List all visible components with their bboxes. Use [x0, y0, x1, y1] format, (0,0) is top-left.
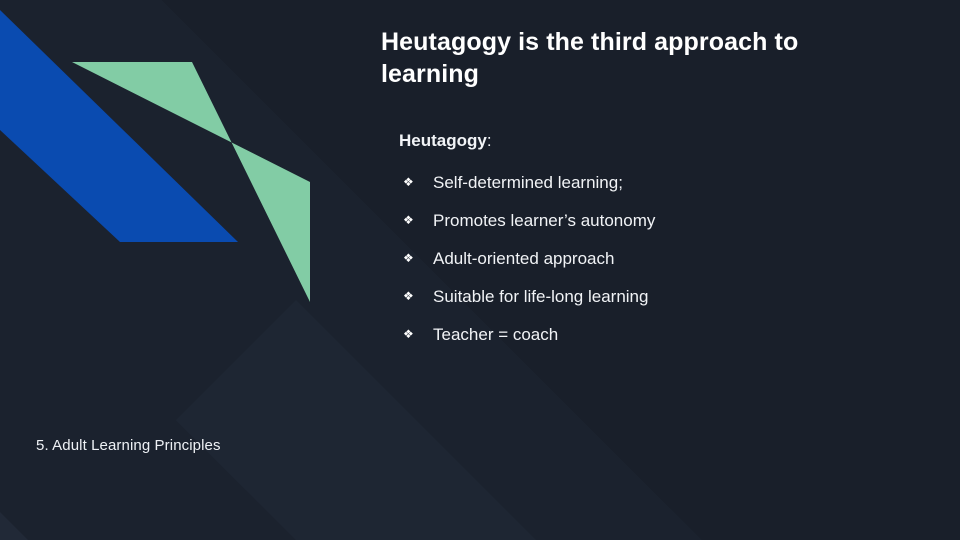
lead-heading: Heutagogy: [399, 130, 829, 151]
list-item: ❖ Suitable for life-long learning [399, 277, 829, 315]
list-item: ❖ Teacher = coach [399, 315, 829, 353]
list-item: ❖ Adult-oriented approach [399, 239, 829, 277]
diamond-bullet-icon: ❖ [403, 252, 414, 264]
diagonal-shadow-band-2 [0, 330, 660, 540]
lead-heading-colon: : [487, 131, 492, 150]
lead-heading-label: Heutagogy [399, 131, 487, 150]
diamond-bullet-icon: ❖ [403, 290, 414, 302]
slide: Heutagogy is the third approach to learn… [0, 0, 960, 540]
bullet-list: ❖ Self-determined learning; ❖ Promotes l… [399, 163, 829, 353]
list-item-label: Self-determined learning; [433, 174, 623, 191]
diamond-bullet-icon: ❖ [403, 214, 414, 226]
list-item-label: Teacher = coach [433, 326, 558, 343]
list-item-label: Suitable for life-long learning [433, 288, 648, 305]
decorative-shapes [0, 0, 360, 330]
list-item-label: Promotes learner’s autonomy [433, 212, 655, 229]
diagonal-shadow-band-3 [0, 392, 729, 540]
diamond-bullet-icon: ❖ [403, 176, 414, 188]
slide-body: Heutagogy: ❖ Self-determined learning; ❖… [399, 130, 829, 353]
list-item: ❖ Self-determined learning; [399, 163, 829, 201]
slide-footer-section-label: 5. Adult Learning Principles [36, 437, 221, 455]
diamond-bullet-icon: ❖ [403, 328, 414, 340]
list-item-label: Adult-oriented approach [433, 250, 614, 267]
list-item: ❖ Promotes learner’s autonomy [399, 201, 829, 239]
slide-title: Heutagogy is the third approach to learn… [381, 26, 881, 90]
